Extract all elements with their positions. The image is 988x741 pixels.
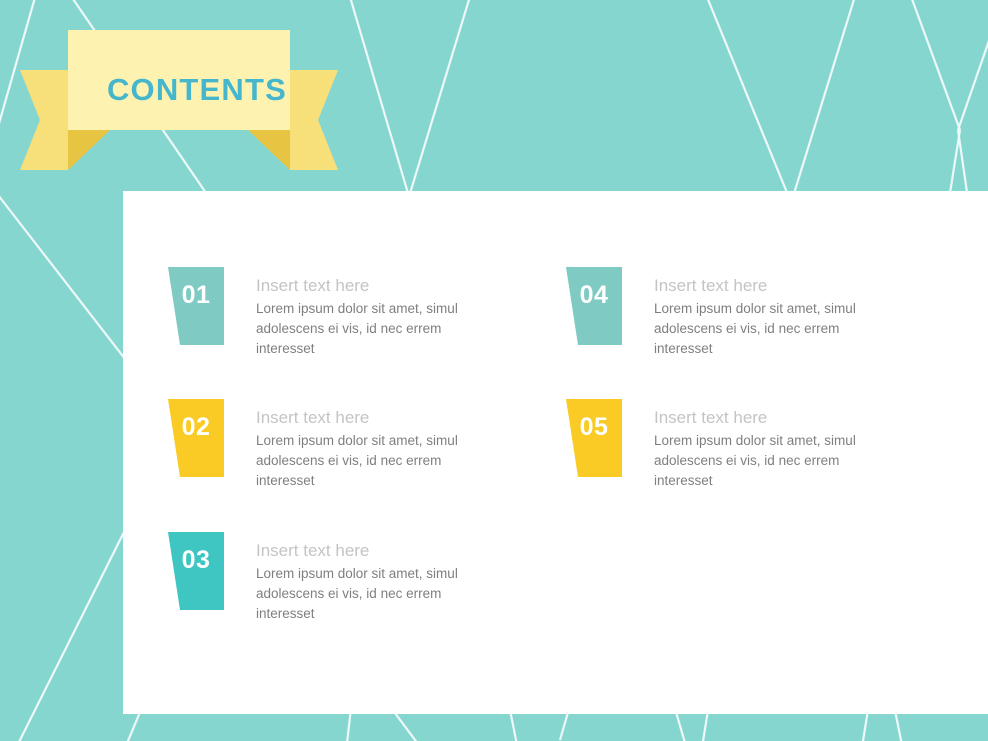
item-body: Lorem ipsum dolor sit amet, simul adoles… (256, 299, 481, 359)
item-number-badge: 02 (168, 399, 224, 477)
item-number: 02 (168, 399, 224, 455)
title-ribbon: CONTENTS (18, 30, 340, 170)
item-heading: Insert text here (654, 407, 879, 429)
item-body: Lorem ipsum dolor sit amet, simul adoles… (654, 431, 879, 491)
item-text-block: Insert text here Lorem ipsum dolor sit a… (654, 267, 879, 359)
item-heading: Insert text here (256, 540, 481, 562)
item-text-block: Insert text here Lorem ipsum dolor sit a… (256, 267, 481, 359)
item-body: Lorem ipsum dolor sit amet, simul adoles… (654, 299, 879, 359)
item-number: 04 (566, 267, 622, 323)
list-item[interactable]: 01 Insert text here Lorem ipsum dolor si… (168, 267, 481, 359)
item-text-block: Insert text here Lorem ipsum dolor sit a… (256, 399, 481, 491)
item-heading: Insert text here (654, 275, 879, 297)
item-number-badge: 01 (168, 267, 224, 345)
item-number-badge: 05 (566, 399, 622, 477)
item-heading: Insert text here (256, 275, 481, 297)
list-item[interactable]: 04 Insert text here Lorem ipsum dolor si… (566, 267, 879, 359)
list-item[interactable]: 05 Insert text here Lorem ipsum dolor si… (566, 399, 879, 491)
list-item[interactable]: 02 Insert text here Lorem ipsum dolor si… (168, 399, 481, 491)
content-card: 01 Insert text here Lorem ipsum dolor si… (123, 191, 988, 714)
item-text-block: Insert text here Lorem ipsum dolor sit a… (654, 399, 879, 491)
contents-slide: 01 Insert text here Lorem ipsum dolor si… (0, 0, 988, 741)
item-body: Lorem ipsum dolor sit amet, simul adoles… (256, 431, 481, 491)
item-body: Lorem ipsum dolor sit amet, simul adoles… (256, 564, 481, 624)
item-number-badge: 04 (566, 267, 622, 345)
list-item[interactable]: 03 Insert text here Lorem ipsum dolor si… (168, 532, 481, 624)
item-number: 03 (168, 532, 224, 588)
item-number: 01 (168, 267, 224, 323)
item-text-block: Insert text here Lorem ipsum dolor sit a… (256, 532, 481, 624)
page-title: CONTENTS (86, 70, 308, 110)
item-number: 05 (566, 399, 622, 455)
item-heading: Insert text here (256, 407, 481, 429)
item-number-badge: 03 (168, 532, 224, 610)
